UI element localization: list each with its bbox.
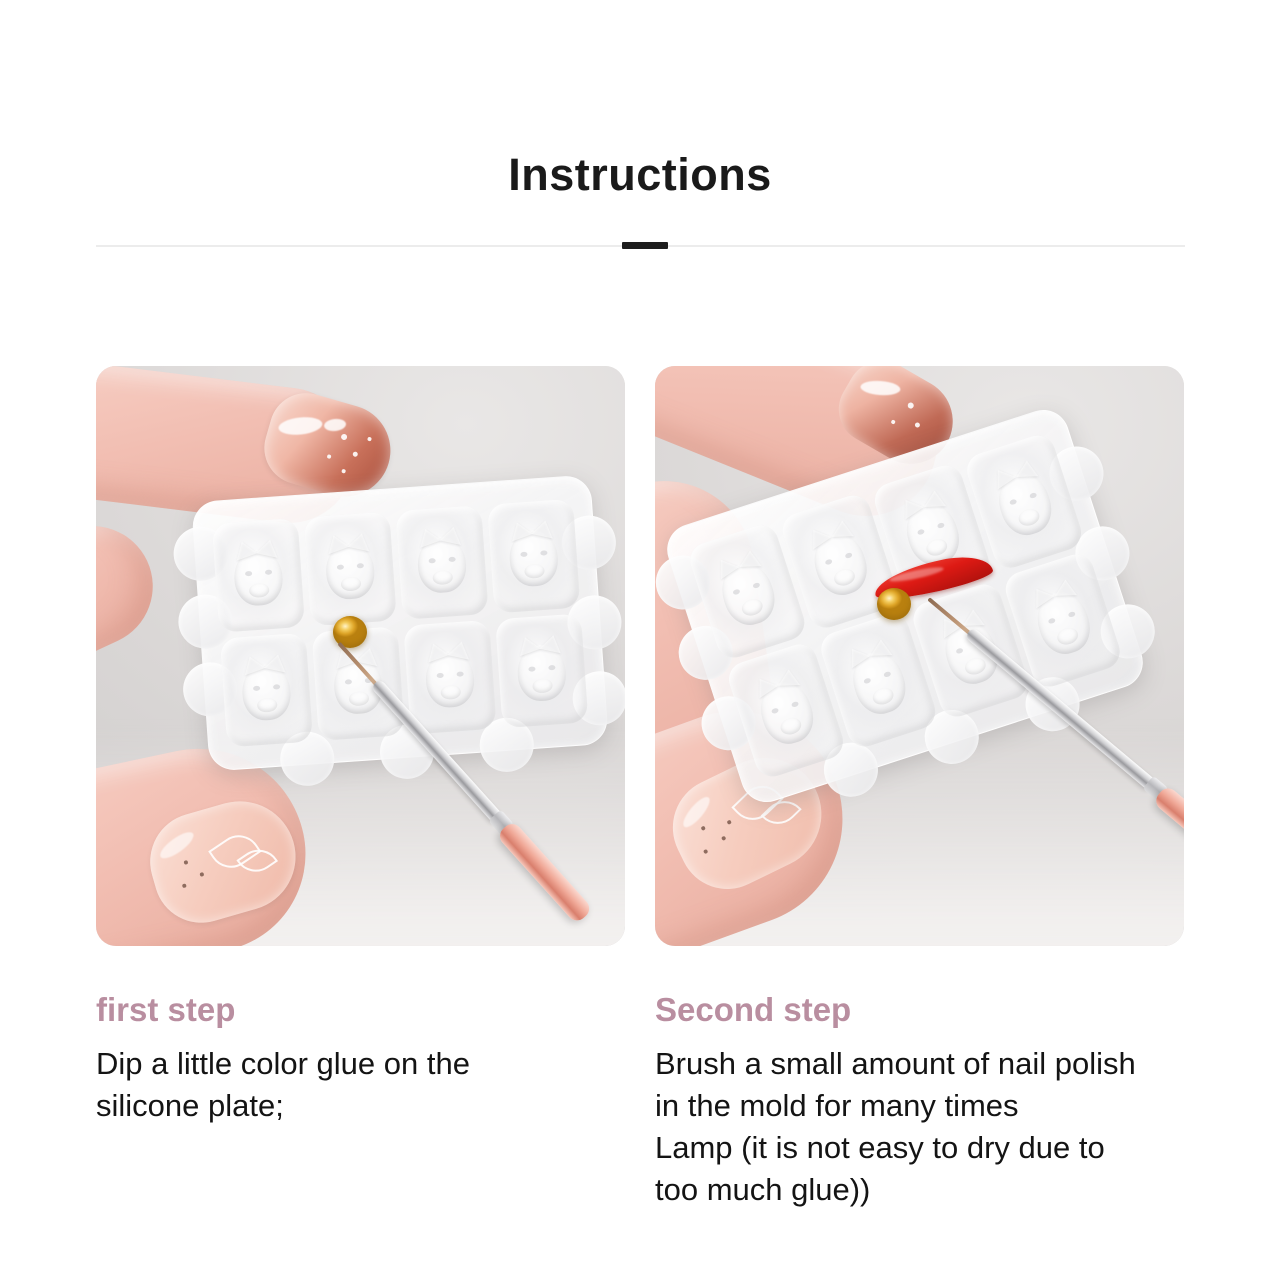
step-photo-second (655, 366, 1184, 946)
header-divider (96, 242, 1185, 250)
mold-cavity (303, 511, 396, 626)
mold-cavity (220, 633, 313, 748)
steps-container: first step Dip a little color glue on th… (96, 366, 1185, 1211)
step-card-second: Second step Brush a small amount of nail… (655, 366, 1184, 1211)
accent-dash (622, 242, 668, 249)
mold-cavity (395, 505, 488, 620)
page-title: Instructions (0, 150, 1280, 200)
page-header: Instructions (0, 150, 1280, 200)
step-body-second: Brush a small amount of nail polish in t… (655, 1043, 1184, 1211)
step-heading-second: Second step (655, 991, 1184, 1029)
step-card-first: first step Dip a little color glue on th… (96, 366, 625, 1211)
instructions-page: Instructions (0, 0, 1280, 1280)
step-heading-first: first step (96, 991, 625, 1029)
mold-cavity (487, 499, 580, 614)
mold-cavity (403, 620, 496, 735)
mold-cavity (212, 518, 305, 633)
step-photo-first (96, 366, 625, 946)
mold-cavity (495, 613, 588, 728)
color-glue-drop (877, 588, 911, 620)
silicone-mold (191, 474, 609, 771)
step-body-first: Dip a little color glue on the silicone … (96, 1043, 625, 1127)
